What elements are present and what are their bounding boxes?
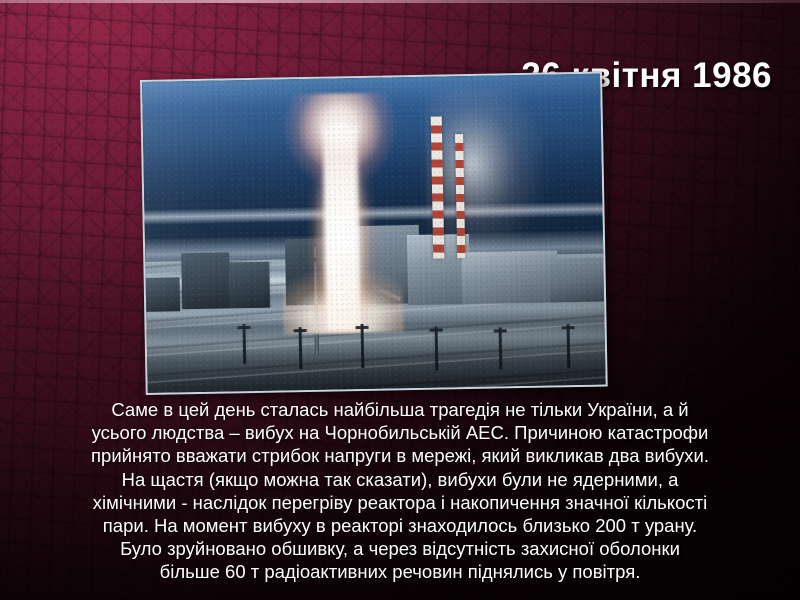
body-line: Було зруйновано обшивку, а через відсутн… xyxy=(14,537,786,560)
photo-glass-sheen xyxy=(142,74,606,393)
body-line: прийнято вважати стрибок напруги в мереж… xyxy=(14,444,786,467)
slide-body-text: Саме в цей день сталась найбільша трагед… xyxy=(0,398,800,584)
body-line: Саме в цей день сталась найбільша трагед… xyxy=(14,398,786,421)
presentation-slide: 26 квітня 1986 xyxy=(0,0,800,600)
body-line: більше 60 т радіоактивних речовин піднял… xyxy=(14,560,786,583)
slide-top-highlight xyxy=(0,0,800,3)
chernobyl-explosion-photo xyxy=(140,72,608,395)
body-line: хімічними - наслідок перегріву реактора … xyxy=(14,491,786,514)
body-line: На щастя (якщо можна так сказати), вибух… xyxy=(14,468,786,491)
body-line: пари. На момент вибуху в реакторі знаход… xyxy=(14,514,786,537)
body-line: усього людства – вибух на Чорнобильській… xyxy=(14,421,786,444)
photo-content xyxy=(142,74,606,393)
